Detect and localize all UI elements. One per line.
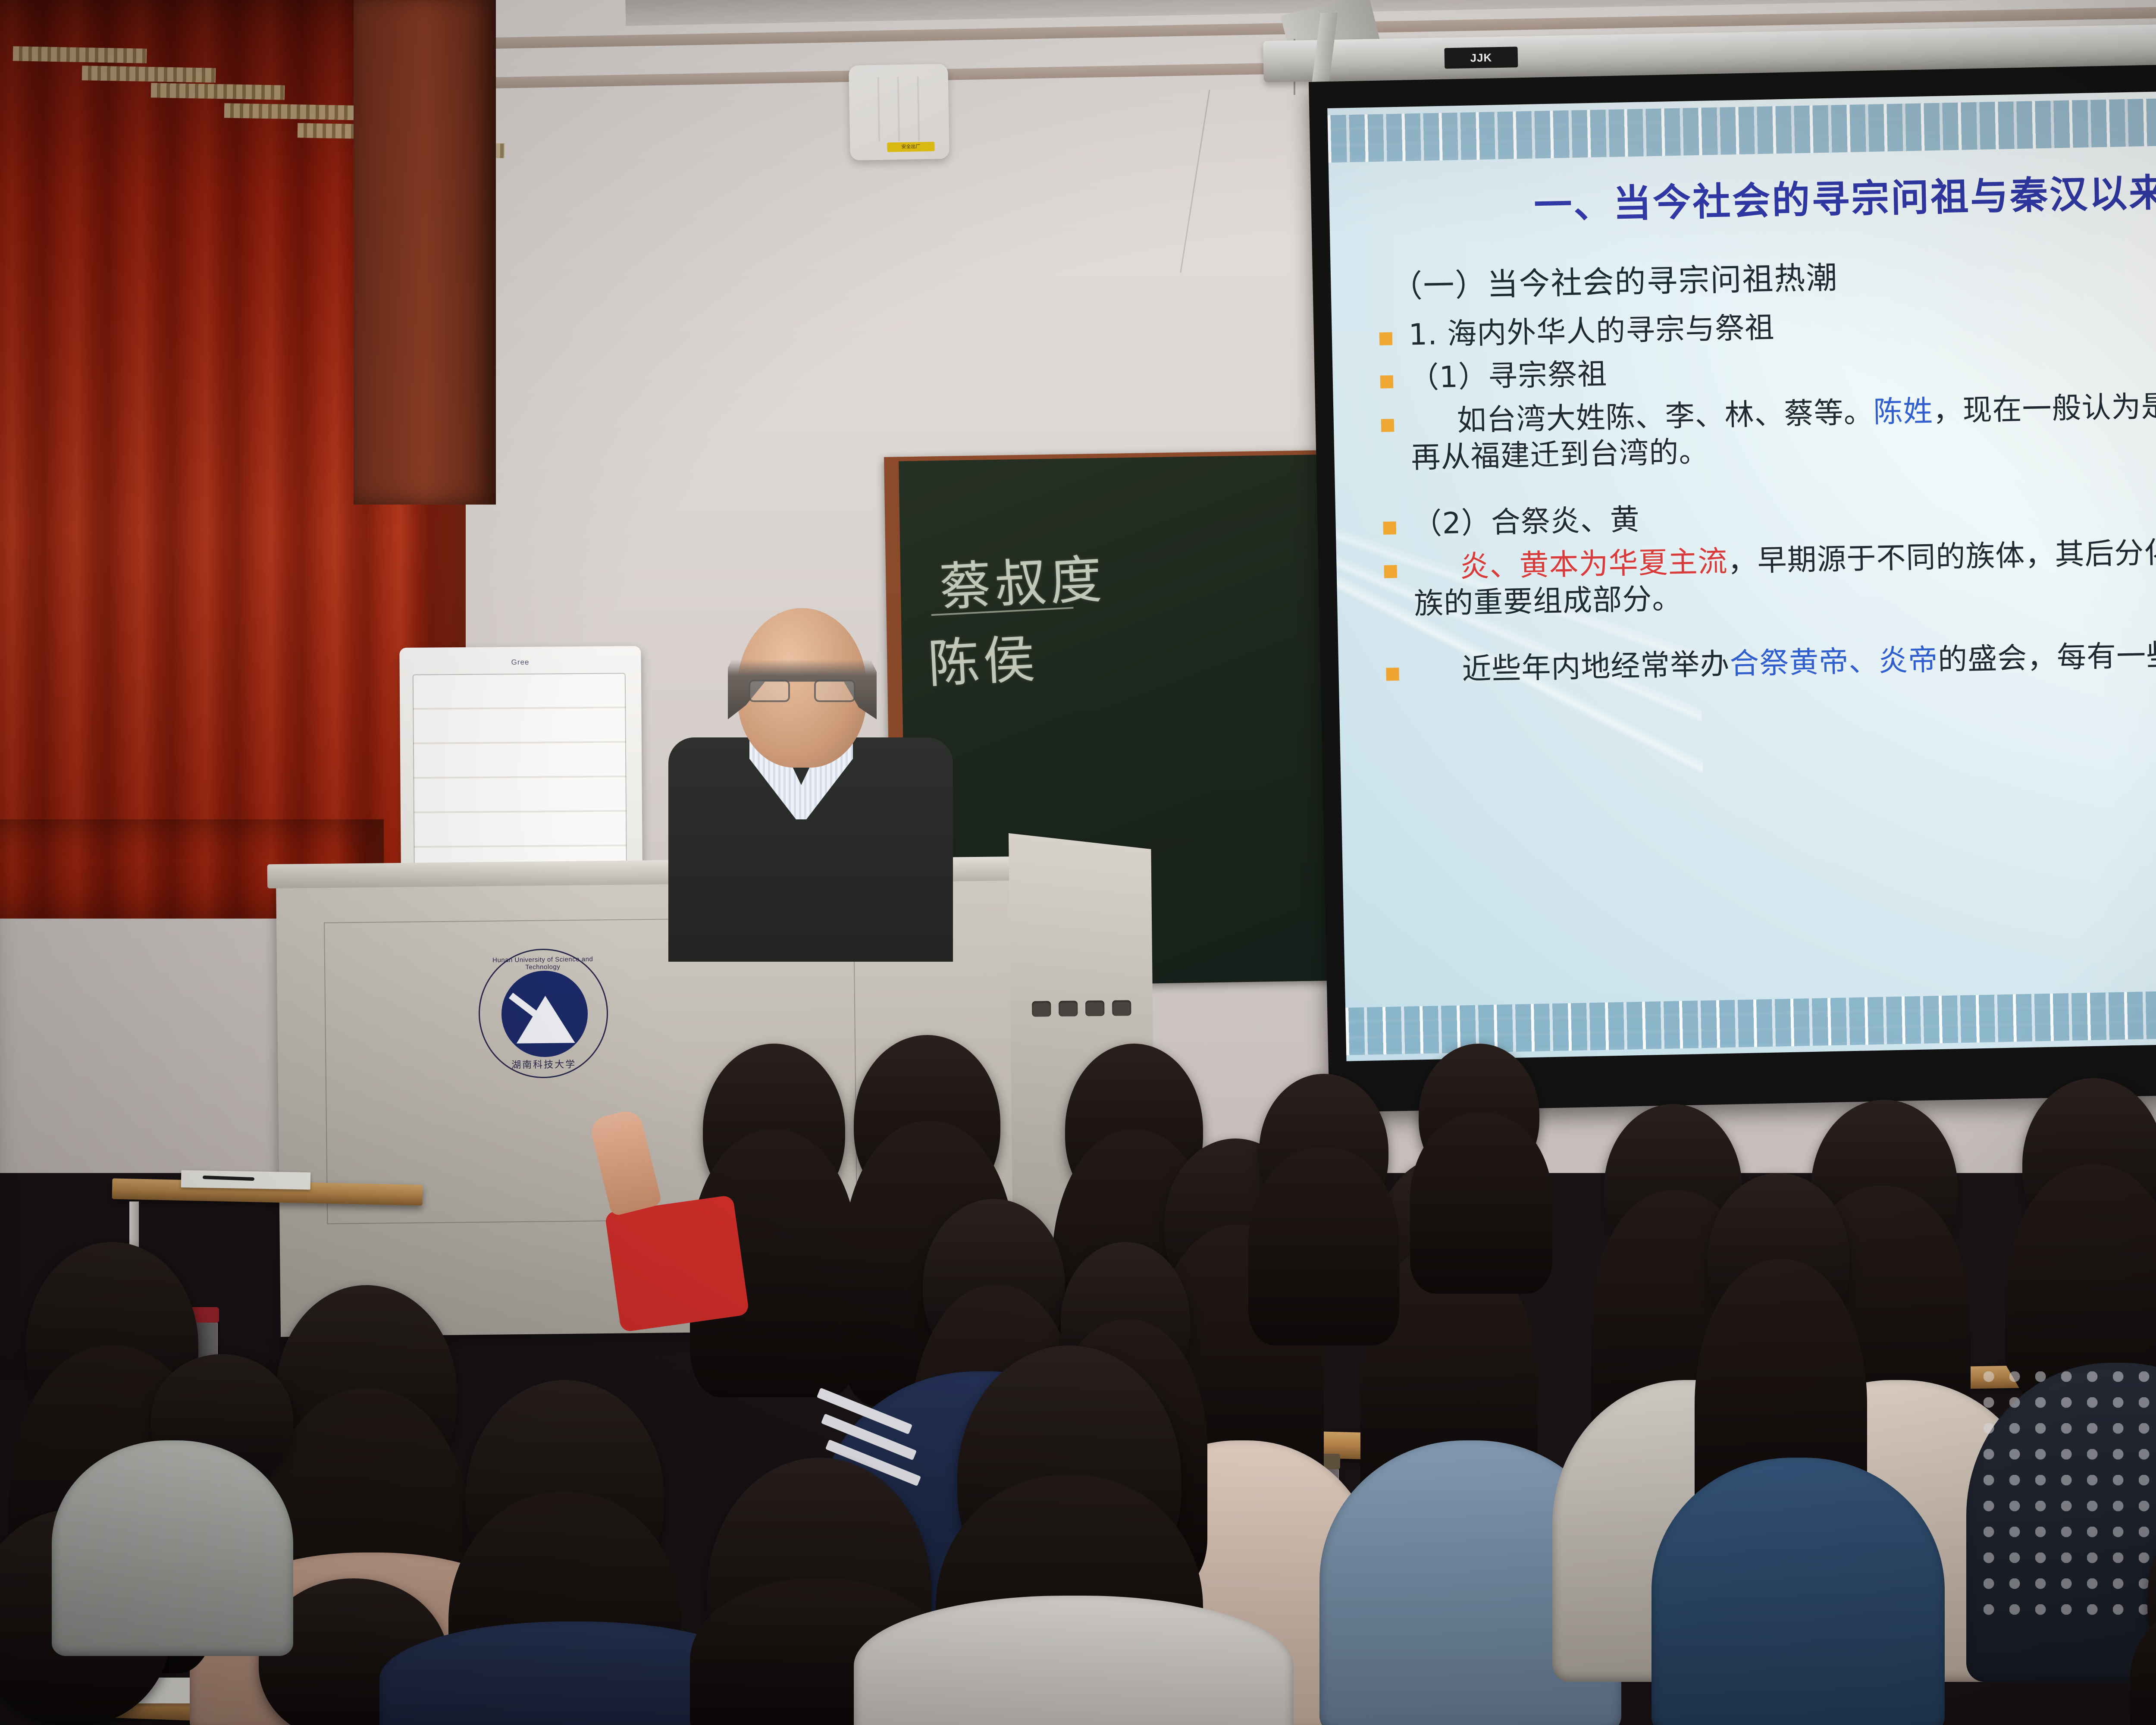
curtain-trim (82, 66, 216, 82)
university-logo: Hunan University of Science and Technolo… (478, 948, 608, 1079)
bullet-text: 如台湾大姓陈、李、林、蔡等。陈姓，现在一般认为是唐代由河南固始迁入福建，再从福建… (1410, 381, 2156, 477)
window-curtain-secondary (354, 0, 496, 505)
student-hair (1410, 1113, 1552, 1294)
highlight-blue: 陈姓 (1873, 394, 1934, 430)
bullet-marker (1383, 521, 1397, 535)
classroom-photo: 安全出厂 蔡叔度 陈侯 JJK 一、当今社会的寻宗问祖与秦汉以来的姓氏格局 （一… (0, 0, 2156, 1725)
red-garment (605, 1195, 749, 1332)
student-torso-front (854, 1596, 1294, 1725)
slide-title: 一、当今社会的寻宗问祖与秦汉以来的姓氏格局 (1376, 155, 2156, 232)
device-label: 安全出厂 (887, 142, 934, 152)
ac-brand-label: Gree (399, 657, 641, 668)
wall-speaker-device[interactable]: 安全出厂 (849, 64, 950, 160)
curtain-trim (13, 46, 147, 63)
polka-dot-pattern (1984, 1371, 2156, 1630)
bullet-marker (1386, 668, 1399, 681)
logo-emblem-circle (501, 970, 588, 1057)
bullet-marker (1381, 419, 1395, 432)
logo-english-text: Hunan University of Science and Technolo… (479, 955, 606, 971)
bullet-marker (1380, 376, 1394, 389)
slide-content: 一、当今社会的寻宗问祖与秦汉以来的姓氏格局 （一）当今社会的寻宗问祖热潮 1. … (1327, 83, 2156, 1061)
speaker-vent (877, 77, 881, 142)
slide-bullet-3: 如台湾大姓陈、李、林、蔡等。陈姓，现在一般认为是唐代由河南固始迁入福建，再从福建… (1381, 381, 2156, 477)
podium-vent-slots (1032, 1000, 1144, 1027)
bullet-text: 1. 海内外华人的寻宗与祭祖 (1408, 310, 1775, 353)
eyeglasses-icon (749, 680, 856, 704)
student-denim (1651, 1458, 1945, 1725)
bullet-lead: 如台湾大姓陈、李、林、蔡等。 (1457, 395, 1874, 438)
student-hair (1248, 1147, 1399, 1345)
projection-screen[interactable]: 一、当今社会的寻宗问祖与秦汉以来的姓氏格局 （一）当今社会的寻宗问祖热潮 1. … (1309, 56, 2156, 1112)
speaker-vent (897, 77, 900, 141)
slide-subtitle: （一）当今社会的寻宗问祖热潮 (1391, 238, 2156, 306)
student-knit-sweater (52, 1440, 293, 1656)
highlight-blue: 合祭黄帝、炎帝 (1730, 643, 1939, 681)
speaker-vent (917, 76, 920, 141)
curtain-trim (151, 83, 285, 100)
logo-chinese-text: 湖南科技大学 (480, 1056, 607, 1071)
lecturer (673, 595, 1069, 949)
bullet-text: 炎、黄本为华夏主流，早期源于不同的族体，其后分化成许多支系，是今天中华民族的重要… (1413, 527, 2156, 623)
screen-brand-label: JJK (1444, 47, 1518, 69)
highlight-red: 炎、黄本为华夏主流 (1460, 544, 1728, 583)
slide-surface: 一、当今社会的寻宗问祖与秦汉以来的姓氏格局 （一）当今社会的寻宗问祖热潮 1. … (1327, 83, 2156, 1061)
bullet-text: （2）合祭炎、黄 (1412, 502, 1640, 543)
bullet-lead: 近些年内地经常举办 (1462, 647, 1730, 687)
slide-bullet-5: 炎、黄本为华夏主流，早期源于不同的族体，其后分化成许多支系，是今天中华民族的重要… (1384, 527, 2156, 623)
bullet-marker (1379, 332, 1393, 345)
bullet-marker (1384, 565, 1398, 578)
curtain-trim (224, 103, 358, 120)
bullet-text: （1）寻宗祭祖 (1409, 357, 1608, 397)
